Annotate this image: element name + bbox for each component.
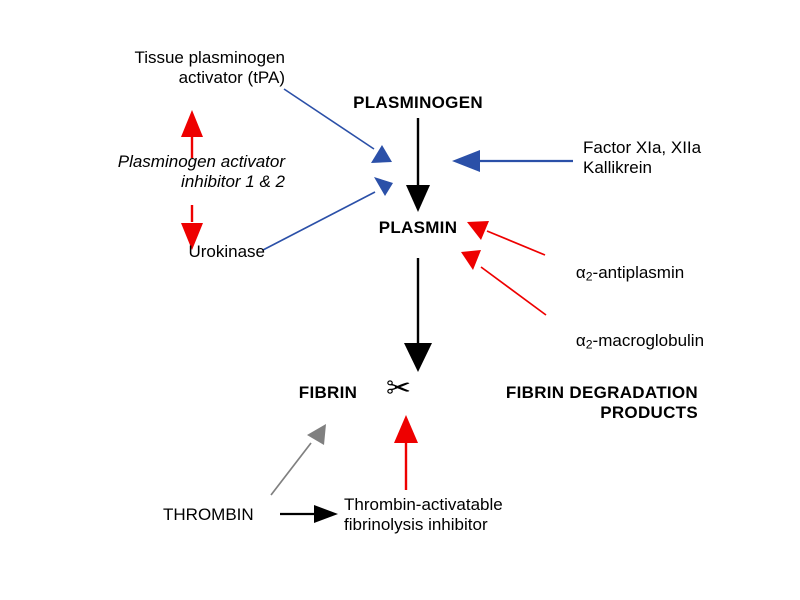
- edge-plasminogen-to-plasmin: [406, 118, 430, 212]
- macroglobulin-alpha: α: [576, 331, 586, 350]
- scissors-icon: ✂: [386, 374, 411, 404]
- edge-pai-to-tpa: [181, 110, 203, 158]
- edge-plasmin-to-fibrin: [404, 258, 432, 372]
- node-macroglobulin: α2-macroglobulin: [557, 311, 772, 372]
- node-urokinase: Urokinase: [110, 242, 265, 262]
- node-factor-kallikrein: Factor XIa, XIIa Kallikrein: [583, 138, 793, 178]
- node-plasminogen: PLASMINOGEN: [338, 93, 498, 113]
- antiplasmin-suffix: -antiplasmin: [593, 263, 685, 282]
- node-fdp: FIBRIN DEGRADATION PRODUCTS: [448, 383, 698, 423]
- node-tpa: Tissue plasminogen activator (tPA): [60, 48, 285, 88]
- edge-tafi-to-cleavage: [394, 415, 418, 490]
- edge-thrombin-to-tafi: [280, 505, 338, 523]
- edge-factor-to-plasmin: [452, 150, 573, 172]
- edge-macroglobulin-to-plasmin: [461, 250, 546, 315]
- node-antiplasmin: α2-antiplasmin: [557, 243, 757, 304]
- node-thrombin: THROMBIN: [163, 505, 283, 525]
- macroglobulin-subscript: 2: [586, 338, 593, 352]
- antiplasmin-subscript: 2: [586, 270, 593, 284]
- node-pai: Plasminogen activator inhibitor 1 & 2: [40, 152, 285, 192]
- node-plasmin: PLASMIN: [348, 218, 488, 238]
- node-tafi: Thrombin-activatable fibrinolysis inhibi…: [344, 495, 574, 535]
- node-fibrin: FIBRIN: [274, 383, 382, 403]
- edge-thrombin-to-fibrin: [271, 424, 326, 495]
- macroglobulin-suffix: -macroglobulin: [593, 331, 705, 350]
- fibrinolysis-diagram: Tissue plasminogen activator (tPA) Plasm…: [0, 0, 800, 600]
- antiplasmin-alpha: α: [576, 263, 586, 282]
